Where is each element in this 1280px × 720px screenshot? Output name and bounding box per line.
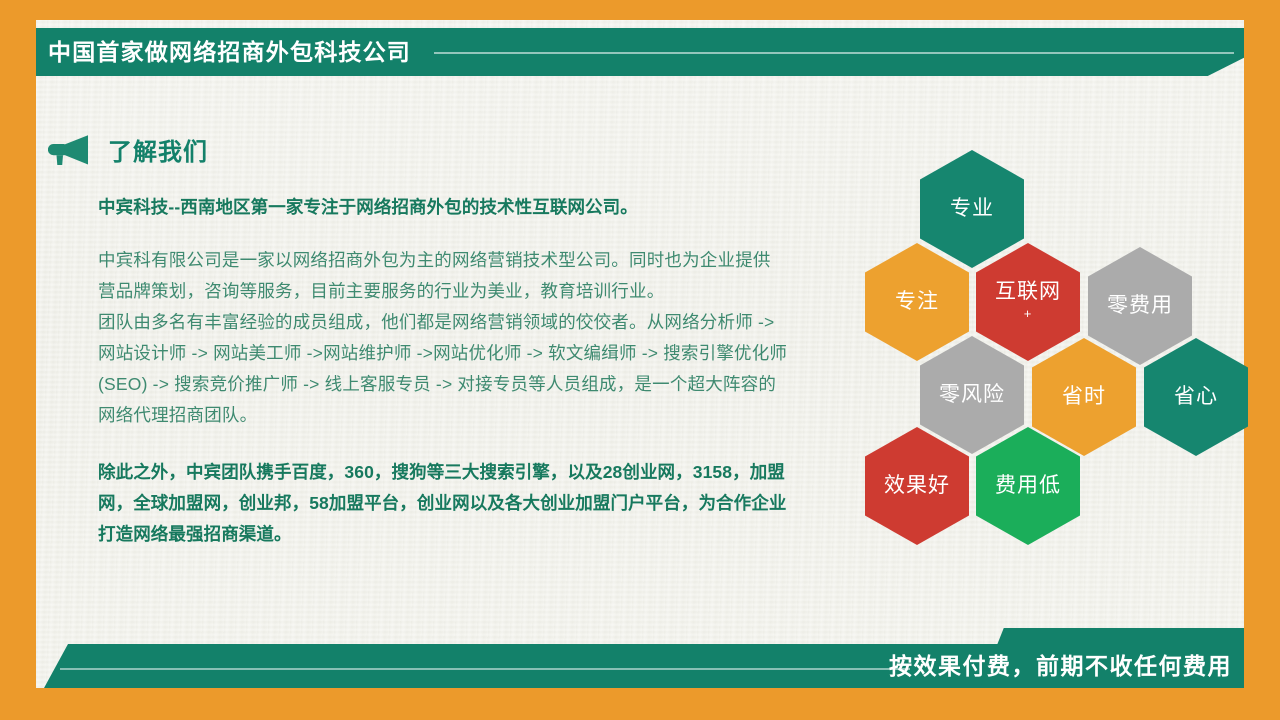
hexagon-label: 省心: [1174, 386, 1218, 409]
hexagon-0: 专业: [920, 150, 1024, 268]
body-paragraph-1: 中宾科有限公司是一家以网络招商外包为主的网络营销技术型公司。同时也为企业提供营品…: [98, 245, 788, 307]
hexagon-label: 互联网: [995, 281, 1061, 304]
hexagon-label: 专注: [895, 291, 939, 314]
lead-paragraph: 中宾科技--西南地区第一家专注于网络招商外包的技术性互联网公司。: [98, 192, 788, 223]
slide-root: 中国首家做网络招商外包科技公司 了解我们 中宾科技--西南地区第一家专注于网络招…: [0, 0, 1280, 720]
section-title: 了解我们: [108, 132, 208, 167]
section-heading: 了解我们: [48, 132, 208, 167]
hexagon-1: 专注: [865, 243, 969, 361]
about-us-copy: 中宾科技--西南地区第一家专注于网络招商外包的技术性互联网公司。 中宾科有限公司…: [98, 192, 788, 550]
hexagon-cluster: 专业专注互联网+零费用零风险省时省心效果好费用低: [820, 150, 1240, 550]
hexagon-label: 省时: [1062, 386, 1106, 409]
footer-hairline-divider: [60, 668, 910, 670]
hexagon-label: 效果好: [884, 475, 950, 498]
hexagon-label: 零风险: [939, 384, 1005, 407]
hexagon-label: 零费用: [1107, 295, 1173, 318]
hexagon-6: 省心: [1144, 338, 1248, 456]
hexagon-2: 互联网+: [976, 243, 1080, 361]
hexagon-label: 专业: [950, 198, 994, 221]
closing-paragraph: 除此之外，中宾团队携手百度，360，搜狗等三大搜索引擎，以及28创业网，3158…: [98, 457, 788, 550]
header-hairline-divider: [434, 52, 1234, 54]
megaphone-icon: [48, 133, 90, 167]
header-title: 中国首家做网络招商外包科技公司: [48, 28, 411, 76]
hexagon-3: 零费用: [1088, 247, 1192, 365]
hexagon-7: 效果好: [865, 427, 969, 545]
footer-tagline: 按效果付费，前期不收任何费用: [889, 644, 1232, 688]
hexagon-4: 零风险: [920, 336, 1024, 454]
hexagon-sublabel: +: [1024, 306, 1033, 323]
hexagon-label: 费用低: [995, 475, 1061, 498]
body-paragraph-2: 团队由多名有丰富经验的成员组成，他们都是网络营销领域的佼佼者。从网络分析师 ->…: [98, 307, 788, 431]
